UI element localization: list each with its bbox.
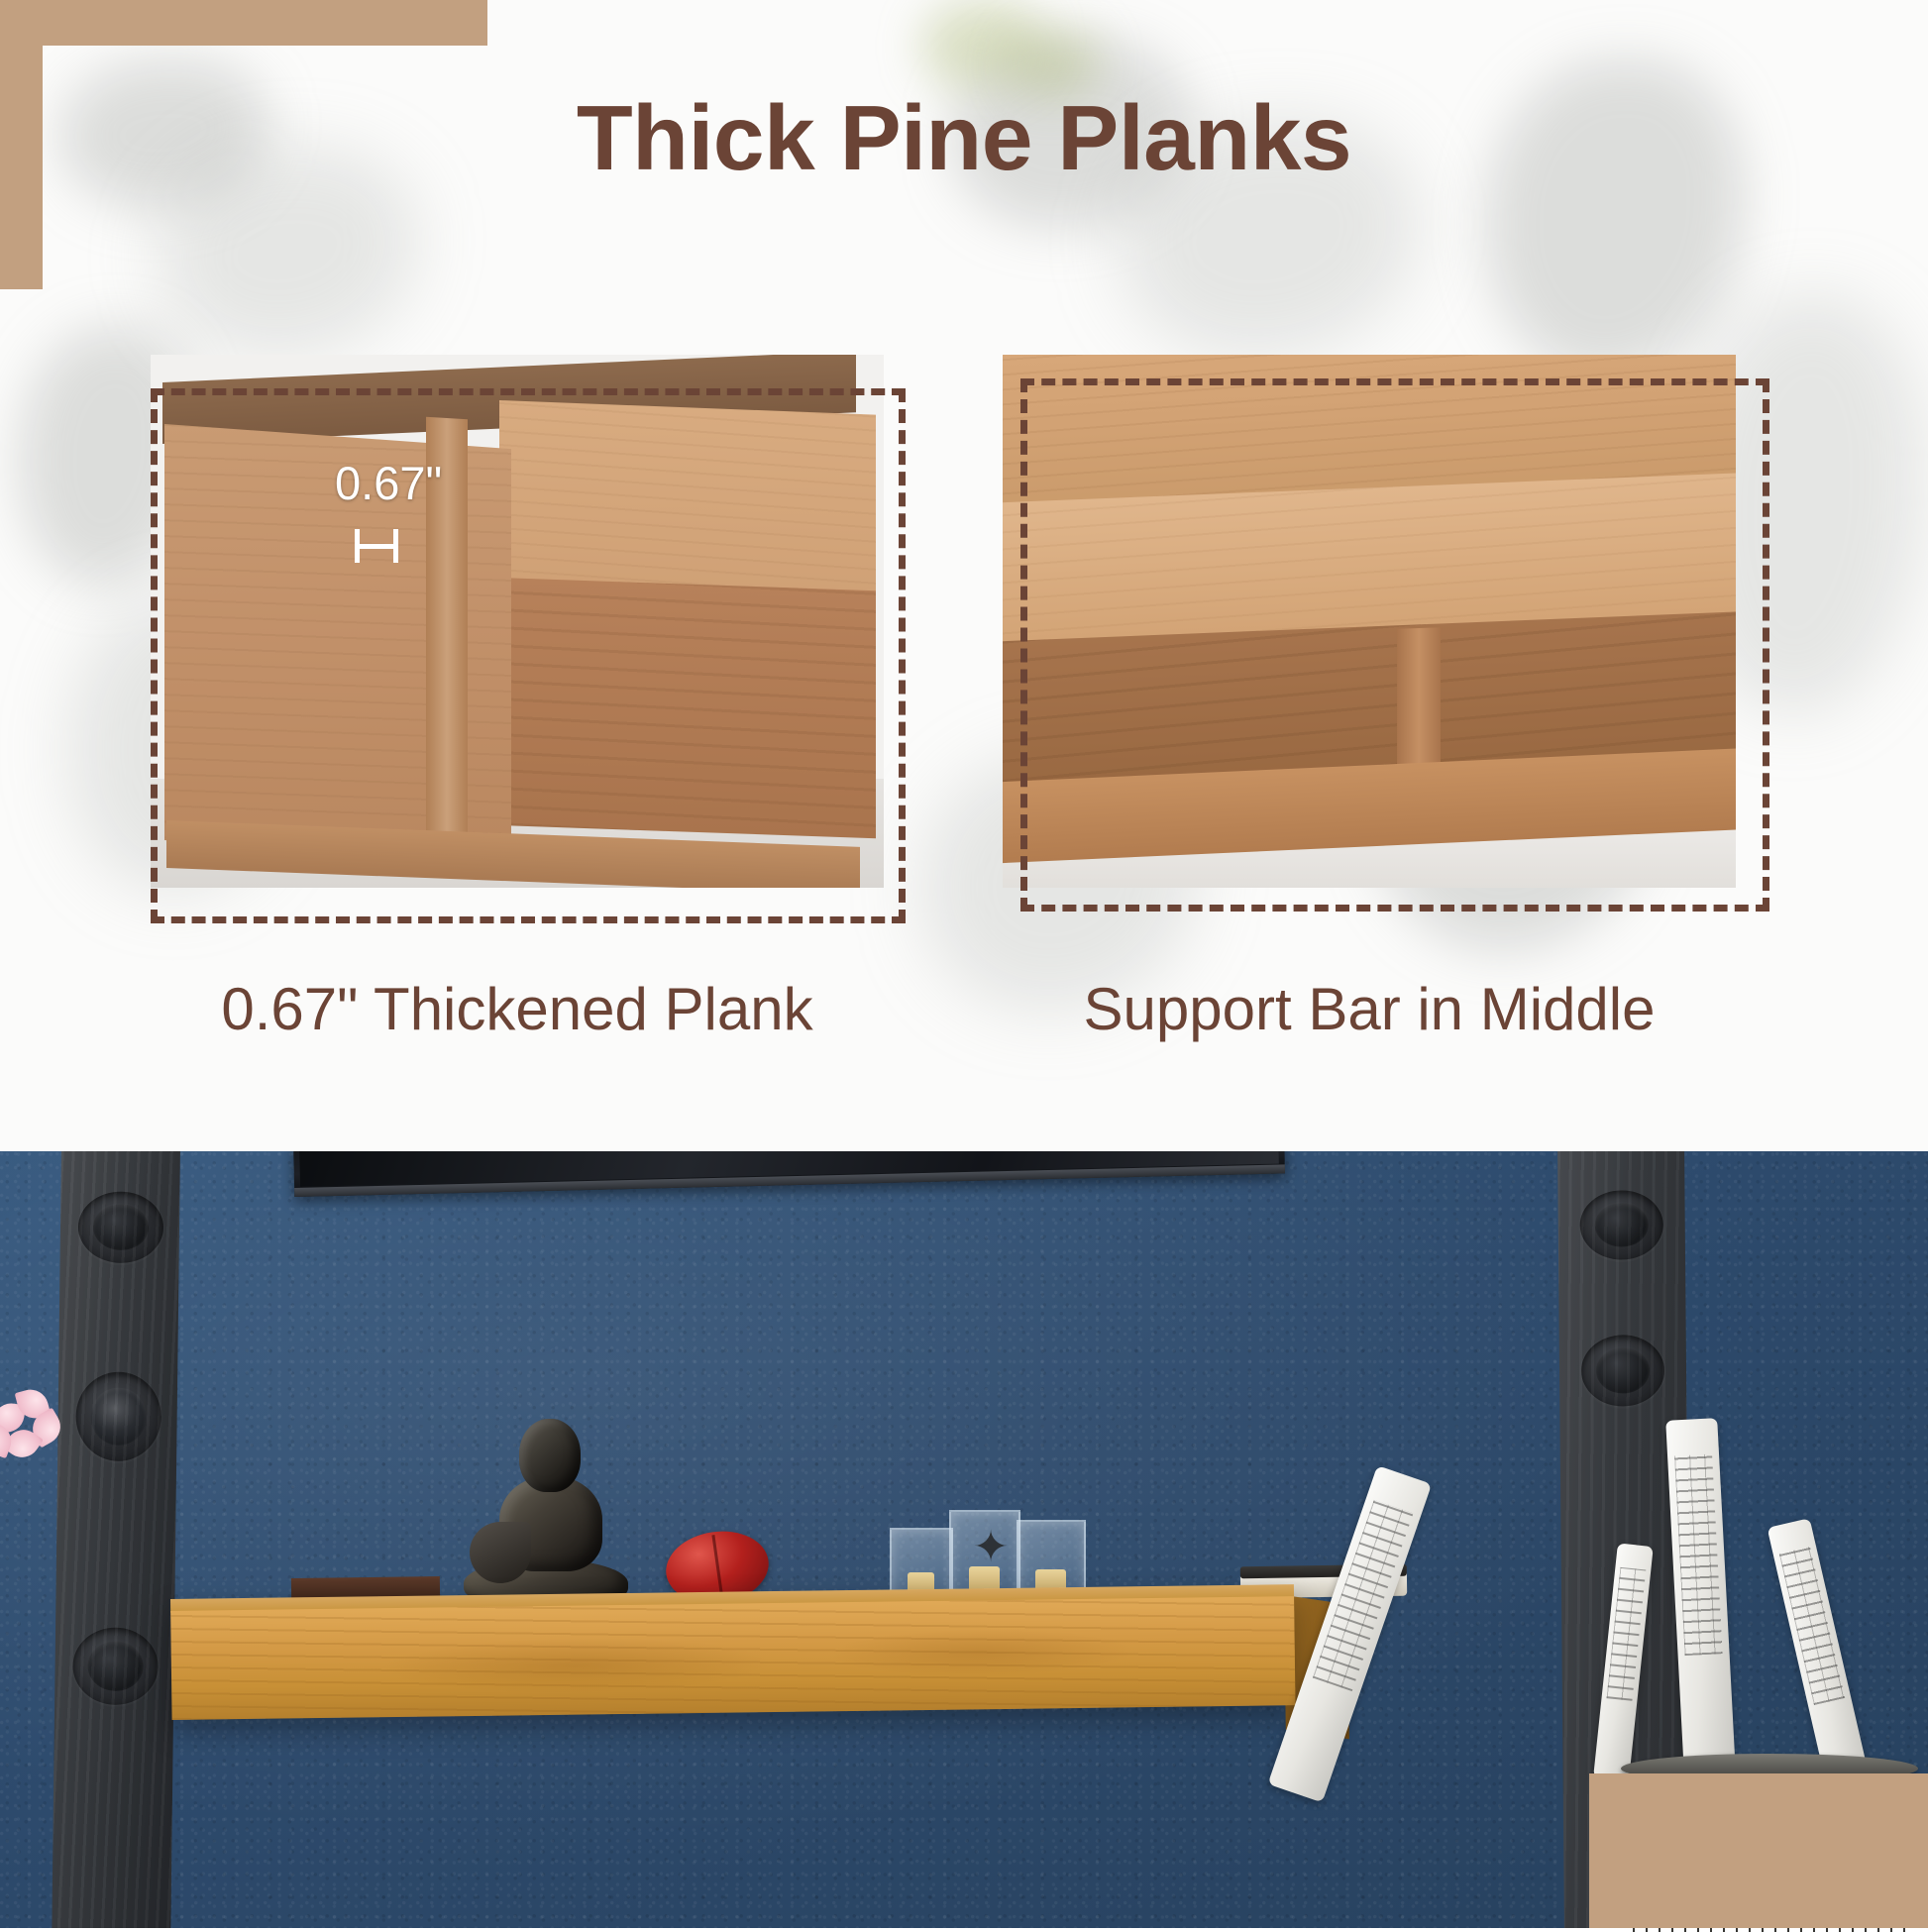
speaker-driver-icon [78, 1191, 164, 1263]
buddha-statue [462, 1419, 630, 1607]
feature-caption-support-bar: Support Bar in Middle [1003, 975, 1736, 1043]
corner-accent [1589, 1773, 1928, 1928]
dimension-label: 0.67" [335, 456, 442, 510]
speaker-driver-icon [1579, 1190, 1663, 1260]
wood-shelf [170, 1584, 1295, 1720]
feature-card-support-bar [1003, 355, 1736, 888]
statue-head [519, 1419, 581, 1492]
feature-caption-thickened-plank: 0.67" Thickened Plank [151, 975, 884, 1043]
product-photo-support-bar [1003, 355, 1736, 888]
product-photo-thickened-plank: 0.67" [151, 355, 884, 888]
statue-arm [470, 1522, 531, 1583]
feature-card-thickened-plank: 0.67" [151, 355, 884, 888]
cherry-blossom [0, 1385, 97, 1494]
page-title: Thick Pine Planks [0, 85, 1928, 191]
dimension-caliper-icon [355, 529, 398, 563]
speaker-driver-icon [1581, 1335, 1665, 1407]
speaker-tower-left [52, 1151, 180, 1928]
feature-panel: Thick Pine Planks 0.67" [0, 0, 1928, 1151]
shelf-front-face [170, 1596, 1295, 1720]
speaker-driver-icon [72, 1627, 159, 1705]
star-ornament-icon: ✦ [969, 1526, 1013, 1569]
corner-bracket-horizontal [0, 0, 487, 46]
plank-cavity [499, 578, 876, 838]
